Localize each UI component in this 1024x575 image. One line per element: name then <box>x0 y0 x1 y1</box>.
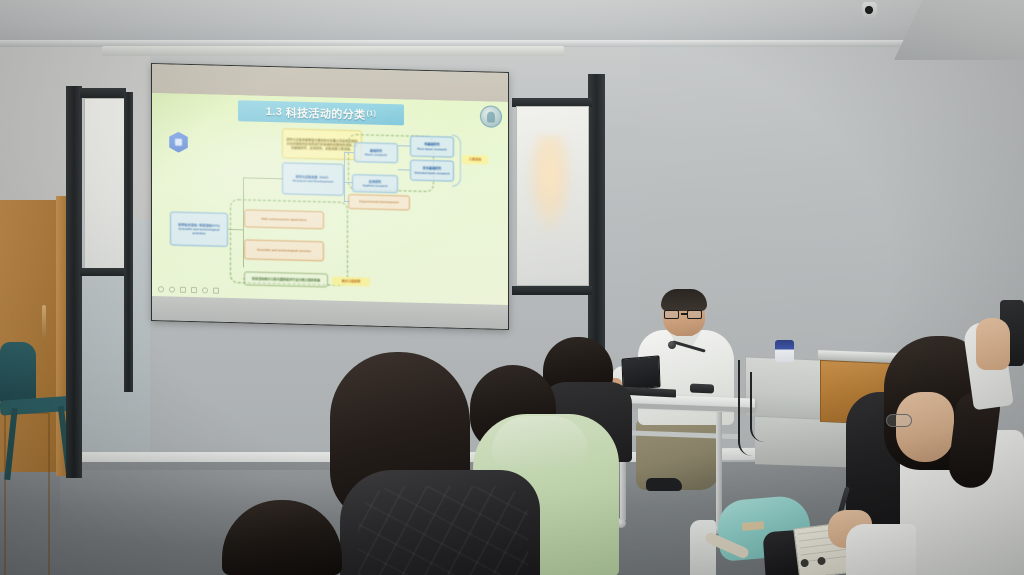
power-cable <box>750 372 764 442</box>
node-label-en: Research and Development <box>293 179 334 184</box>
slide-title-suffix: (1) <box>367 110 377 117</box>
prev-slide-icon[interactable] <box>158 286 164 292</box>
presenter-glasses-right <box>687 310 702 319</box>
node-label-en: Pure basic research <box>417 146 446 151</box>
diagram-tag-footer: 统计口径说明 <box>332 277 370 287</box>
diagram-node-basic-research: 基础研究 Basic research <box>354 142 398 163</box>
diagram-node-rnd: 研究与试验发展（R&D） Research and Development <box>282 162 344 196</box>
connector <box>243 278 245 279</box>
student-mint-hoodie-hood <box>492 416 588 468</box>
presenter-shoe <box>646 478 682 491</box>
slide-title-number: 1.3 <box>266 105 283 117</box>
presentation-slide: 1.3 科技活动的分类(1) 研究与试验发展是指为增加知识总量以及运用这些知识去… <box>152 93 508 305</box>
node-label-en: Applied research <box>362 183 387 188</box>
node-label-en: R&D achievements application <box>261 217 306 222</box>
presenter-glasses-left <box>664 310 679 319</box>
node-label-en: Experimental development <box>359 200 398 205</box>
door-handle-icon[interactable] <box>42 305 46 339</box>
page-badge-icon <box>169 131 188 152</box>
microphone-head-icon <box>668 341 676 349</box>
laptop-screen[interactable] <box>621 355 660 390</box>
diagram-node-rnd-application: R&D achievements application <box>244 209 324 229</box>
microphone-base <box>690 384 714 394</box>
page-title: 科技活动的分类 <box>286 104 366 122</box>
desk-leg <box>716 412 722 528</box>
node-label-en: Oriented basic research <box>414 170 449 175</box>
connector <box>344 201 350 202</box>
whiteboard-panel-left <box>84 98 128 270</box>
connector <box>243 177 244 267</box>
projector-screen-case <box>102 46 564 56</box>
classroom-photo: 1.3 科技活动的分类(1) 研究与试验发展是指为增加知识总量以及运用这些知识去… <box>0 0 1024 575</box>
slide-title-bar: 1.3 科技活动的分类(1) <box>238 100 404 125</box>
connector <box>243 217 245 218</box>
diagram-brace <box>452 135 461 187</box>
white-chair-back <box>690 520 716 575</box>
ceiling-camera-icon <box>862 2 877 19</box>
connector <box>344 152 345 202</box>
whiteboard-rail-mid <box>80 268 128 276</box>
whiteboard-glare <box>527 135 573 235</box>
connector <box>344 182 353 183</box>
whiteboard-panel-right <box>516 106 589 286</box>
diagram-node-footer: 科技活动统计口径与国民经济行业分类口径的衔接 <box>244 271 328 287</box>
student-raised-hand <box>976 318 1010 370</box>
student-notes-glasses <box>886 414 912 427</box>
presenter-hair <box>661 289 707 311</box>
whiteboard-rail-bottom-right <box>512 286 592 295</box>
next-slide-icon[interactable] <box>169 286 175 292</box>
writing-sleeve <box>846 524 916 575</box>
diagram-node-experimental-development: Experimental development <box>348 194 410 211</box>
node-label-en: Basic research <box>365 152 387 157</box>
whiteboard-post-mid <box>124 92 133 392</box>
diagram-node-pure-basic: 纯基础研究 Pure basic research <box>410 136 454 158</box>
diagram-node-applied-research: 应用研究 Applied research <box>352 174 398 193</box>
presenter-glasses-bridge <box>681 313 687 315</box>
diagram-node-root: 科学技术活动 / 科技活动(STA) Scientific and techno… <box>170 211 228 246</box>
slide-grid-icon[interactable] <box>191 287 197 293</box>
node-label-en: Scientific and technological services <box>257 248 311 254</box>
student-notes-face <box>896 392 954 462</box>
whiteboard-rail-top <box>80 88 126 98</box>
whiteboard-post-left <box>66 86 82 478</box>
connector <box>243 177 283 179</box>
blue-indicator-device <box>775 340 794 362</box>
more-icon[interactable] <box>213 288 219 294</box>
connector <box>344 152 354 153</box>
projection-screen: 1.3 科技活动的分类(1) 研究与试验发展是指为增加知识总量以及运用这些知识去… <box>151 63 509 330</box>
diagram-node-oriented-basic: 定向基础研究 Oriented basic research <box>410 160 454 182</box>
student-black-jacket-quilting <box>358 486 528 575</box>
university-emblem-icon <box>480 105 502 128</box>
teal-chair-back <box>0 342 36 404</box>
diagram-node-st-services: Scientific and technological services <box>244 239 324 261</box>
slideshow-toolbar[interactable] <box>158 286 219 294</box>
diagram-tag-rnd: 三类活动 <box>462 155 488 165</box>
fullscreen-icon[interactable] <box>180 287 186 293</box>
node-label-en: Scientific and technological activities <box>173 226 225 236</box>
settings-icon[interactable] <box>202 287 208 293</box>
